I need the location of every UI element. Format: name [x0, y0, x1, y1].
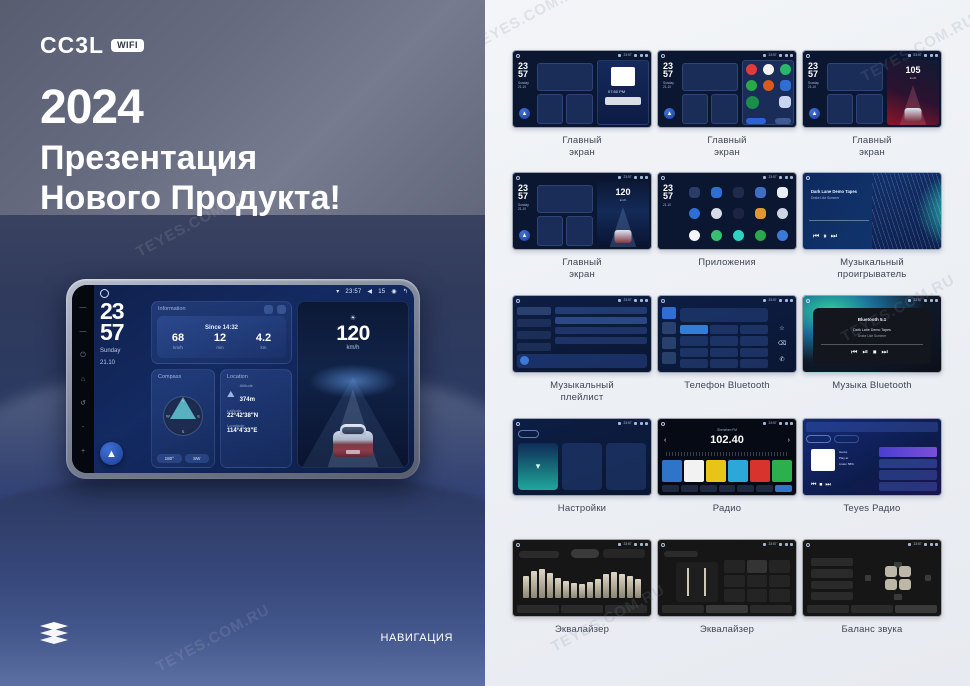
eq-preset-select[interactable]	[603, 549, 645, 558]
horizon-glow	[308, 364, 398, 398]
trip-stat-row: 68 km/h 12 min 4.2 km	[157, 333, 286, 350]
station-meta: GenrePlay atListen 58%	[839, 449, 871, 467]
tab-sound	[542, 430, 561, 438]
gallery-caption: Телефон Bluetooth	[657, 380, 797, 392]
home-widget-grid: 23 57 Sunday 21.10 ▲ Information	[100, 301, 409, 468]
logo-text: CC3L	[40, 32, 104, 59]
wifi-tile[interactable]: ▾	[518, 443, 558, 490]
compass-title: Compass	[152, 370, 214, 380]
preset-buttons[interactable]	[811, 558, 853, 600]
preset-button	[811, 558, 853, 566]
driving-view-widget[interactable]: 120 km/h	[597, 182, 649, 247]
list-item	[555, 327, 647, 334]
compass-card[interactable]	[537, 216, 563, 246]
camera-icon[interactable]: ◉	[391, 288, 396, 295]
head-unit-screen[interactable]: — — ⏻ ⌂ ↺ - + ▾ 23:57 ◀ 15 ◉ ↰	[72, 285, 414, 473]
location-card[interactable]	[566, 216, 593, 246]
key-volume-up[interactable]: +	[81, 448, 85, 455]
tab-fader	[561, 605, 603, 613]
clock-column: 23 57 Sunday 21.10 ▲	[100, 301, 146, 468]
key-dash-2[interactable]: —	[80, 328, 87, 335]
dialpad-key	[680, 359, 708, 368]
caption-line1: Музыка Bluetooth	[802, 380, 942, 392]
app-icon-all-apps[interactable]	[779, 96, 791, 108]
gallery-caption: Главный экран	[512, 257, 652, 281]
app-icon-files[interactable]	[763, 80, 774, 91]
gallery-item[interactable]: 23:57 Эквалайзер	[512, 539, 652, 636]
app-icon-back[interactable]	[689, 230, 700, 241]
trip-time-unit: min	[214, 345, 226, 350]
status-bar: 23:57	[763, 53, 793, 57]
status-time: 23:57	[345, 289, 361, 295]
compass-direction: SW	[185, 454, 210, 463]
app-icon-filemanager[interactable]	[755, 208, 766, 219]
effect-tile	[724, 589, 745, 602]
altitude-row: ⛰ Altitude 374m	[221, 380, 291, 406]
home-icon[interactable]	[516, 422, 520, 426]
status-bar: ▾ 23:57 ◀ 15 ◉ ↰	[336, 288, 408, 295]
key-power[interactable]: ⏻	[80, 352, 86, 359]
gallery-caption: Музыкальный проигрыватель	[802, 257, 942, 281]
list-item	[879, 447, 937, 457]
compass-dial: N S E W	[163, 396, 203, 436]
favorite-icon[interactable]: ☆	[772, 325, 792, 337]
thumb-apps[interactable]: 23:57 235721.10	[657, 172, 797, 250]
call-icon[interactable]: ✆	[772, 356, 792, 368]
app-icon-calculator[interactable]	[755, 187, 766, 198]
wifi-icon: ▾	[536, 461, 541, 472]
home-icon[interactable]	[806, 543, 810, 547]
dialpad-key	[710, 336, 738, 345]
car-plate	[346, 450, 360, 454]
trip-stat: 12 min	[214, 333, 226, 350]
information-actions[interactable]	[264, 305, 286, 314]
gallery-caption: Музыка Bluetooth	[802, 380, 942, 392]
head-unit-bezel: — — ⏻ ⌂ ↺ - + ▾ 23:57 ◀ 15 ◉ ↰	[66, 279, 420, 479]
eq-tabs[interactable]	[662, 605, 792, 613]
information-card[interactable]	[827, 63, 883, 91]
sound-effect-grid[interactable]	[724, 560, 790, 602]
gallery-caption: Баланс звука	[802, 624, 942, 636]
clock-minutes: 57	[100, 322, 146, 343]
clock-widget: 235721.10	[663, 184, 673, 207]
speaker-left	[865, 575, 871, 581]
caption-line1: Приложения	[657, 257, 797, 269]
app-icon-bt-music[interactable]	[733, 187, 744, 198]
progress-bar[interactable]	[809, 220, 869, 221]
dual-slider-panel[interactable]	[676, 562, 718, 602]
status-bar: 23:57	[763, 421, 793, 425]
home-icon[interactable]	[661, 543, 665, 547]
compass-north: N	[182, 398, 185, 403]
compass-card[interactable]	[537, 94, 563, 124]
settings-tabs[interactable]	[518, 430, 646, 438]
hero-headline-line2: Нового Продукта!	[40, 180, 341, 217]
app-icon-avi[interactable]	[689, 187, 700, 198]
caption-line1: Главный	[512, 257, 652, 269]
preset-2	[684, 460, 704, 482]
gallery-item[interactable]: 23:57 Музыкальный плейлист	[512, 295, 652, 404]
thumb-radio[interactable]: 23:57 Shenzhen FM 102.40 ‹ ›	[657, 418, 797, 496]
thumb-home-drive-red[interactable]: 23:57 2357Sunday21.10 ▲ 105 km/h	[802, 50, 942, 128]
compass-readouts: 180° SW	[157, 454, 209, 463]
phone-nav-rail[interactable]	[662, 307, 676, 368]
gallery-item[interactable]: 23:57 2357Sunday21.10 ▲ 105 km/h Главный…	[802, 50, 942, 159]
screenshot-gallery: 23:57 2357Sunday21.10 ▲ 07:50 PM Главный…	[485, 0, 970, 686]
preset-button	[811, 592, 853, 600]
back-icon[interactable]: ↰	[403, 288, 408, 295]
tab-system	[628, 430, 647, 438]
caption-line1: Настройки	[512, 503, 652, 515]
album-art	[611, 67, 635, 86]
tab-eq	[662, 605, 704, 613]
gallery-item[interactable]: 23:57 ▾ Настройки	[512, 418, 652, 515]
home-icon[interactable]	[516, 543, 520, 547]
gallery-caption: Настройки	[512, 503, 652, 515]
speed-value: 105	[905, 65, 920, 75]
tab-balance	[750, 605, 792, 613]
trip-speed-value: 68	[172, 333, 184, 344]
effect-tile	[747, 575, 768, 588]
tab-wifi	[518, 430, 539, 438]
car-3d-model	[905, 108, 922, 121]
home-icon[interactable]	[516, 54, 520, 58]
media-controls[interactable]: ⏮⏸⏭	[813, 233, 841, 241]
thumb-music-player[interactable]: 23:57 Dark Lane Demo Tapes Drake Like Su…	[802, 172, 942, 250]
gallery-caption: Музыкальный плейлист	[512, 380, 652, 404]
thumb-home-drive-blue[interactable]: 23:57 2357Sunday21.10 ▲ 120 km/h	[512, 172, 652, 250]
hero-footer-label: НАВИГАЦИЯ	[381, 632, 453, 644]
dialpad-key	[740, 359, 768, 368]
navigation-icon[interactable]: ▲	[519, 230, 530, 241]
credit-tile[interactable]	[562, 443, 602, 490]
tab-eq	[807, 605, 849, 613]
preset-5	[750, 460, 770, 482]
next-station-icon[interactable]: ›	[788, 437, 790, 444]
app-icon-gallery[interactable]	[777, 208, 788, 219]
location-card[interactable]	[711, 94, 738, 124]
caption-line1: Музыкальный	[802, 257, 942, 269]
key-back[interactable]: ↺	[80, 400, 86, 407]
tab-balance	[605, 605, 647, 613]
head-unit-home-screen: ▾ 23:57 ◀ 15 ◉ ↰ 23 57 Sunday 21.10	[94, 285, 414, 473]
gallery-item[interactable]: 23:57 Bluetooth 5.1 Dark Lane Demo Tapes…	[802, 295, 942, 392]
gallery-item[interactable]: 23:57	[657, 539, 797, 636]
latitude-row: Latitude 22°42'38"N	[221, 406, 291, 421]
information-card[interactable]	[537, 63, 593, 91]
compass-south: S	[182, 429, 185, 434]
caption-line1: Главный	[512, 135, 652, 147]
eq-mode-label[interactable]	[664, 551, 698, 557]
list-item	[555, 337, 647, 344]
backspace-icon[interactable]: ⌫	[772, 340, 792, 352]
information-card[interactable]: Information Since 14:32 68 km	[151, 301, 292, 364]
key-dash-1[interactable]: —	[80, 304, 87, 311]
dialpad-key	[680, 325, 708, 334]
volume-icon: ◀	[367, 288, 372, 295]
app-icon-music-player[interactable]	[733, 230, 744, 241]
location-card[interactable]	[856, 94, 883, 124]
prev-station-icon[interactable]: ‹	[664, 437, 666, 444]
status-bar: 23:57	[618, 298, 648, 302]
app-drawer-grid[interactable]	[684, 183, 792, 245]
gallery-item[interactable]: 23:57 Shenzhen FM 102.40 ‹ ›	[657, 418, 797, 515]
eq-tabs[interactable]	[807, 605, 937, 613]
bluetooth-version-badge: Bluetooth 5.1	[858, 317, 887, 322]
app-icon-radio[interactable]	[777, 230, 788, 241]
media-controls[interactable]	[605, 97, 641, 105]
dialpad-key	[680, 336, 708, 345]
home-icon[interactable]	[516, 299, 520, 303]
reset-icon[interactable]	[277, 305, 286, 314]
list-item	[879, 459, 937, 469]
latitude-value: 22°42'38"N	[227, 413, 285, 419]
caption-line1: Эквалайзер	[512, 624, 652, 636]
longitude-row: Longitude 114°4'33"E	[221, 421, 291, 436]
dialpad-key	[740, 336, 768, 345]
home-icon[interactable]	[806, 299, 810, 303]
speed-value: 120	[615, 187, 630, 197]
effect-tile	[724, 575, 745, 588]
app-icon-mail[interactable]	[780, 80, 791, 91]
song-artist: Drake Like Summer	[858, 334, 886, 338]
radio-band-label: Shenzhen FM	[717, 428, 737, 432]
tab-eq	[517, 605, 559, 613]
app-icon-dvr[interactable]	[733, 208, 744, 219]
progress-bar[interactable]	[821, 344, 923, 345]
status-bar: 23:57	[618, 421, 648, 425]
dialpad-key	[680, 348, 708, 357]
gallery-item[interactable]: 23:57	[802, 539, 942, 636]
home-icon[interactable]	[661, 422, 665, 426]
list-item	[555, 307, 647, 314]
app-icon-navi[interactable]	[711, 230, 722, 241]
hero-panel: — — ⏻ ⌂ ↺ - + ▾ 23:57 ◀ 15 ◉ ↰	[0, 0, 485, 686]
gallery-item[interactable]: 23:57 2357Sunday21.10 ▲ 07:50 PM Главный…	[512, 50, 652, 159]
media-controls[interactable]: ⏮⏹⏭	[811, 482, 834, 489]
caption-line2: плейлист	[512, 392, 652, 404]
speed-unit: km/h	[910, 76, 917, 80]
radio-frequency: 102.40	[710, 434, 744, 446]
tuning-scale[interactable]	[666, 452, 788, 456]
car-3d-model	[615, 230, 632, 243]
home-icon[interactable]	[806, 176, 810, 180]
navigation-icon[interactable]: ▲	[664, 108, 675, 119]
preset-button	[811, 569, 853, 577]
thumb-settings[interactable]: 23:57 ▾	[512, 418, 652, 496]
altitude-label: Altitude	[240, 383, 255, 388]
caption-line1: Эквалайзер	[657, 624, 797, 636]
home-icon[interactable]	[661, 54, 665, 58]
playlist-sidebar[interactable]	[517, 307, 551, 352]
location-card[interactable]	[566, 94, 593, 124]
speaker-rear	[894, 594, 902, 600]
thumb-bt-music[interactable]: 23:57 Bluetooth 5.1 Dark Lane Demo Tapes…	[802, 295, 942, 373]
now-playing-bar[interactable]	[517, 354, 647, 368]
track-list[interactable]	[555, 307, 647, 352]
app-icon-youtube[interactable]	[746, 64, 757, 75]
gallery-grid: 23:57 2357Sunday21.10 ▲ 07:50 PM Главный…	[485, 0, 970, 686]
caption-line1: Teyes Радио	[802, 503, 942, 515]
app-pill-primary[interactable]	[746, 118, 766, 124]
status-bar: 23:57	[763, 542, 793, 546]
thumb-home-apps[interactable]: 23:57 2357Sunday21.10 ▲	[657, 50, 797, 128]
eq-toggle[interactable]	[571, 549, 599, 558]
tab-apps	[585, 430, 604, 438]
teyes-radio-tabs[interactable]	[806, 435, 938, 443]
effect-tile	[769, 589, 790, 602]
app-icon-bluetooth[interactable]	[711, 187, 722, 198]
status-bar: 23:57	[618, 175, 648, 179]
clock-widget[interactable]: 23 57 Sunday 21.10	[100, 301, 146, 368]
gallery-item[interactable]: 23:57 Dark Lane Demo Tapes Drake Like Su…	[802, 172, 942, 281]
layers-icon	[40, 622, 68, 646]
effect-tile	[724, 560, 745, 573]
compass-card[interactable]	[827, 94, 853, 124]
status-bar: 23:57	[763, 298, 793, 302]
speed-value: 120	[336, 322, 370, 346]
caption-line1: Баланс звука	[802, 624, 942, 636]
settings-gear-icon[interactable]	[264, 305, 273, 314]
location-card[interactable]: Location ⛰ Altitude 374m Latitude	[220, 369, 292, 468]
status-bar: 23:57	[908, 53, 938, 57]
app-icon-chrome[interactable]	[689, 208, 700, 219]
capacitive-key-strip[interactable]: — — ⏻ ⌂ ↺ - +	[72, 285, 94, 473]
dashboard-lower	[0, 470, 485, 686]
gallery-item[interactable]: 23:57 2357Sunday21.10 ▲ 120 km/h Главный…	[512, 172, 652, 281]
app-icon-clock[interactable]	[711, 208, 722, 219]
car-rear-window	[342, 427, 364, 434]
gallery-caption: Радио	[657, 503, 797, 515]
status-bar: 23:57	[908, 542, 938, 546]
trip-speed-unit: km/h	[172, 345, 184, 350]
status-volume: 15	[378, 289, 385, 295]
longitude-value: 114°4'33"E	[227, 428, 285, 434]
gallery-item[interactable]: 23:57 235721.10	[657, 172, 797, 269]
bt-music-card: Bluetooth 5.1 Dark Lane Demo Tapes Drake…	[813, 308, 931, 364]
eq-tabs[interactable]	[517, 605, 647, 613]
caption-line2: экран	[512, 269, 652, 281]
caption-line1: Телефон Bluetooth	[657, 380, 797, 392]
app-icon-maps[interactable]	[780, 64, 791, 75]
information-card[interactable]	[537, 185, 593, 213]
key-home[interactable]: ⌂	[81, 376, 85, 383]
app-pill-secondary[interactable]	[775, 118, 791, 124]
radio-toolbar[interactable]	[662, 485, 792, 492]
clock-date: 21.10	[100, 359, 146, 367]
preset-list[interactable]	[662, 460, 792, 482]
thumb-playlist[interactable]: 23:57	[512, 295, 652, 373]
list-item	[879, 470, 937, 480]
gallery-item[interactable]: GenrePlay atListen 58% ⏮⏹⏭ Teyes Радио	[802, 418, 942, 515]
navigation-icon[interactable]: ▲	[809, 108, 820, 119]
eq-preset-label[interactable]	[519, 551, 559, 558]
app-icon-music[interactable]	[746, 80, 757, 91]
altitude-value: 374m	[240, 397, 255, 403]
mountain-icon: ⛰	[227, 389, 235, 400]
more-tile[interactable]	[606, 443, 646, 490]
preset-6	[772, 460, 792, 482]
thumb-home-media[interactable]: 23:57 2357Sunday21.10 ▲ 07:50 PM	[512, 50, 652, 128]
information-card[interactable]	[682, 63, 738, 91]
tab-storage	[606, 430, 625, 438]
trip-stats: Since 14:32 68 km/h 12 min	[157, 316, 286, 358]
thumb-equalizer[interactable]: 23:57	[512, 539, 652, 617]
gallery-caption: Главный экран	[802, 135, 942, 159]
status-bar: 23:57	[618, 53, 648, 57]
home-icon[interactable]	[516, 176, 520, 180]
app-icon-camera[interactable]	[777, 187, 788, 198]
product-logo: CC3L WIFI	[40, 32, 144, 59]
dialpad-key	[710, 359, 738, 368]
teyes-radio-topbar[interactable]	[806, 422, 938, 432]
album-art	[811, 449, 835, 471]
gallery-caption: Эквалайзер	[657, 624, 797, 636]
hero-headline-line1: Презентация	[40, 140, 257, 177]
dialpad-key	[740, 348, 768, 357]
clock-widget: 2357Sunday21.10	[518, 62, 529, 89]
key-volume-down[interactable]: -	[82, 424, 84, 431]
wifi-icon: ▾	[336, 288, 339, 295]
album-art	[520, 356, 529, 365]
app-icon-play-store[interactable]	[746, 96, 759, 109]
song-artist: Drake Like Summer	[811, 196, 839, 200]
preset-button	[811, 581, 853, 589]
compass-card[interactable]: Compass N S E W 180° S	[151, 369, 215, 468]
compass-card[interactable]	[682, 94, 708, 124]
home-icon[interactable]	[100, 289, 109, 298]
driving-view-widget[interactable]: 105 km/h	[887, 60, 939, 125]
clock-widget: 2357Sunday21.10	[663, 62, 674, 89]
home-icon[interactable]	[661, 299, 665, 303]
thumb-teyes-radio[interactable]: GenrePlay atListen 58% ⏮⏹⏭	[802, 418, 942, 496]
phone-number-field[interactable]	[680, 308, 768, 322]
dialpad[interactable]	[680, 325, 768, 368]
navigation-icon[interactable]: ▲	[100, 442, 123, 465]
preset-1	[662, 460, 682, 482]
media-controls[interactable]: ⏮⏯⏹⏭	[851, 349, 893, 357]
effect-tile	[769, 560, 790, 573]
home-icon[interactable]	[661, 176, 665, 180]
compass-east: E	[197, 414, 200, 419]
home-icon[interactable]	[806, 54, 810, 58]
song-title: Dark Lane Demo Tapes	[853, 328, 891, 332]
gallery-caption: Эквалайзер	[512, 624, 652, 636]
preset-4	[728, 460, 748, 482]
gallery-item[interactable]: 23:57 2357Sunday21.10 ▲ Главный	[657, 50, 797, 159]
speed-unit: km/h	[346, 345, 359, 351]
seat-map	[885, 566, 911, 590]
app-icon-play-store[interactable]	[755, 230, 766, 241]
thumb-equalizer-2[interactable]: 23:57	[657, 539, 797, 617]
app-icon-browser[interactable]	[763, 64, 774, 75]
eq-sliders[interactable]	[523, 560, 641, 598]
dialer-actions[interactable]: ☆ ⌫ ✆	[772, 325, 792, 368]
station-list[interactable]	[879, 447, 937, 491]
gallery-caption: Teyes Радио	[802, 503, 942, 515]
caption-line2: экран	[657, 147, 797, 159]
thumb-dialer[interactable]: 23:57	[657, 295, 797, 373]
effect-tile	[747, 560, 768, 573]
list-item	[555, 317, 647, 324]
gallery-item[interactable]: 23:57	[657, 295, 797, 392]
caption-line2: проигрыватель	[802, 269, 942, 281]
preset-3	[706, 460, 726, 482]
balance-pad[interactable]	[865, 554, 931, 602]
driving-view-widget[interactable]: ☀ 120 km/h	[297, 301, 409, 468]
navigation-icon[interactable]: ▲	[519, 108, 530, 119]
thumb-balance[interactable]: 23:57	[802, 539, 942, 617]
